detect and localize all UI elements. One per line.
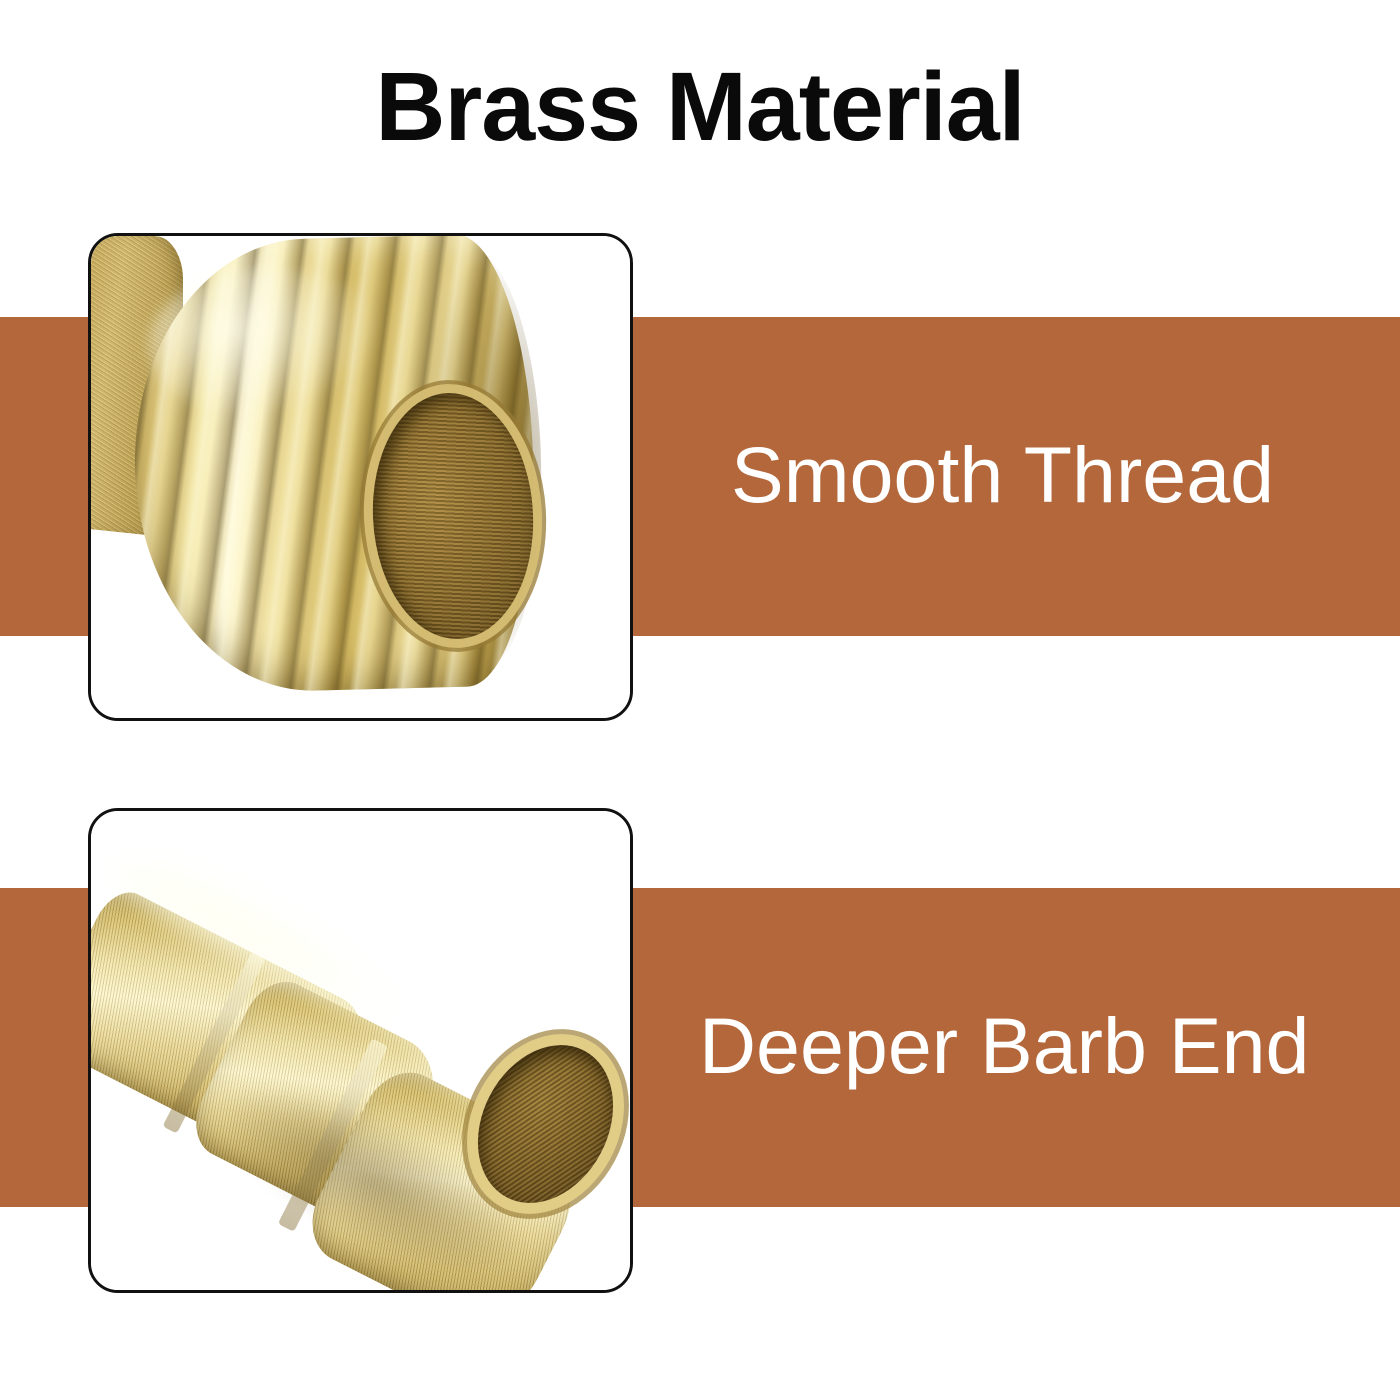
brass-barb-end-photo xyxy=(91,811,630,1290)
page-title: Brass Material xyxy=(0,58,1400,155)
product-photo-card-smooth-thread xyxy=(88,233,633,721)
infographic-page: Brass Material Smooth Thread Deeper Barb… xyxy=(0,0,1400,1400)
photo-stage-deeper-barb-end xyxy=(91,811,630,1290)
feature-caption-deeper-barb-end: Deeper Barb End xyxy=(699,1006,1309,1085)
photo-stage-smooth-thread xyxy=(91,236,630,718)
brass-threaded-nipple-photo xyxy=(91,236,630,718)
feature-caption-smooth-thread: Smooth Thread xyxy=(731,435,1274,514)
product-photo-card-deeper-barb-end xyxy=(88,808,633,1293)
